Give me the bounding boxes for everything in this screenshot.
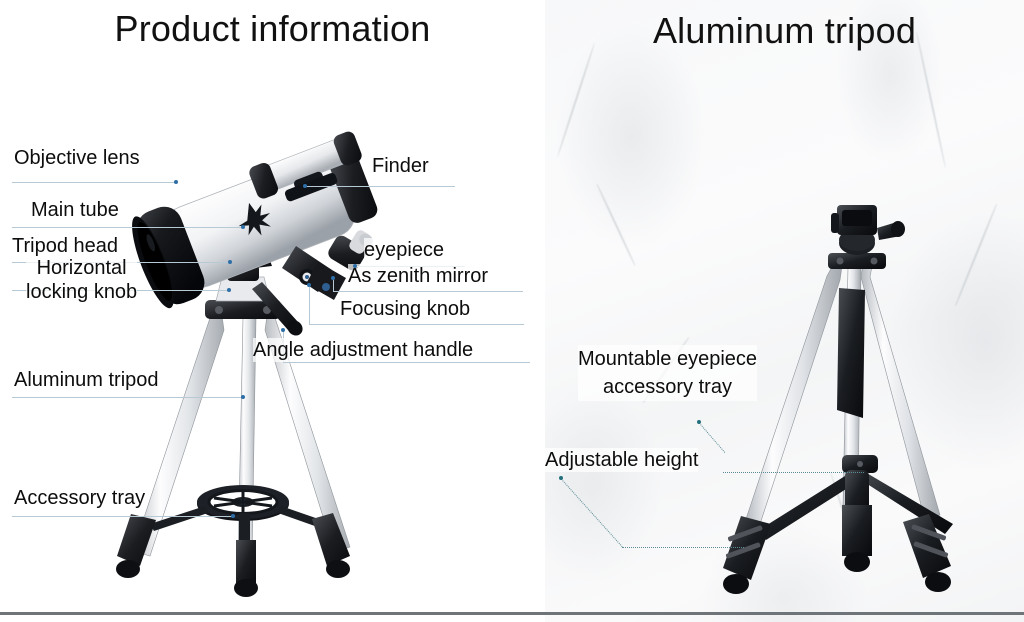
callout-adjustable-height: Adjustable height	[545, 448, 698, 472]
callout-accessory-tray: Accessory tray	[14, 486, 145, 510]
leader-dot-adjustable-height	[559, 476, 563, 480]
callout-mountable-eyepiece-accessory-tray: Mountable eyepiece accessory tray	[578, 345, 757, 401]
callout-tripod-head: Tripod head	[12, 234, 118, 258]
callout-finder: Finder	[372, 154, 429, 178]
callout-as-zenith-mirror: As zenith mirror	[348, 264, 488, 288]
focusing-knob-part	[305, 275, 309, 279]
tripod-head-assembly	[828, 205, 905, 269]
callout-main-tube: Main tube	[31, 198, 119, 222]
leader-as-zenith-mirror-vert	[333, 278, 334, 292]
callout-objective-lens: Objective lens	[14, 146, 140, 170]
leader-dot-finder	[303, 184, 307, 188]
callout-eyepiece: eyepiece	[364, 238, 444, 262]
leader-dot-focusing-knob	[307, 283, 311, 287]
right-bottom-rule	[545, 612, 1024, 615]
callout-aluminum-tripod: Aluminum tripod	[14, 368, 159, 392]
callout-angle-adjustment-handle: Angle adjustment handle	[253, 338, 473, 362]
leader-accessory-tray	[12, 516, 234, 517]
leader-objective-lens	[12, 182, 178, 183]
tripod-center-column	[837, 288, 865, 418]
left-bottom-rule	[0, 612, 545, 615]
leader-finder	[305, 186, 455, 187]
leader-aluminum-tripod	[12, 397, 244, 398]
callout-focusing-knob: Focusing knob	[340, 297, 470, 321]
leader-main-tube	[12, 227, 244, 228]
right-panel: Aluminum tripod	[545, 0, 1024, 622]
leader-dot-mountable-tray	[697, 420, 701, 424]
product-info-page: Product information	[0, 0, 1024, 622]
leader-dot-aluminum-tripod	[241, 395, 245, 399]
callout-horizontal-locking-knob: Horizontal locking knob	[26, 256, 137, 304]
leader-mountable-tray-horiz	[723, 472, 864, 473]
leader-angle-adjustment-handle	[283, 362, 530, 363]
leader-dot-as-zenith-mirror	[331, 276, 335, 280]
leader-dot-accessory-tray	[231, 514, 235, 518]
leader-adjustable-height-horiz	[622, 547, 744, 548]
leader-dot-eyepiece	[353, 264, 357, 268]
left-panel: Product information	[0, 0, 545, 622]
tripod-feet	[116, 513, 350, 597]
leader-dot-angle-adjustment-handle	[281, 328, 285, 332]
leader-dot-horizontal-locking-knob	[227, 288, 231, 292]
leader-focusing-knob	[309, 324, 524, 325]
leader-focusing-knob-vert	[309, 285, 310, 325]
leader-dot-main-tube	[241, 225, 245, 229]
leader-dot-objective-lens	[174, 180, 178, 184]
leader-dot-tripod-head	[228, 260, 232, 264]
aluminum-tripod-illustration	[545, 0, 1024, 622]
leader-as-zenith-mirror	[333, 291, 523, 292]
accessory-tray-part	[150, 485, 333, 545]
